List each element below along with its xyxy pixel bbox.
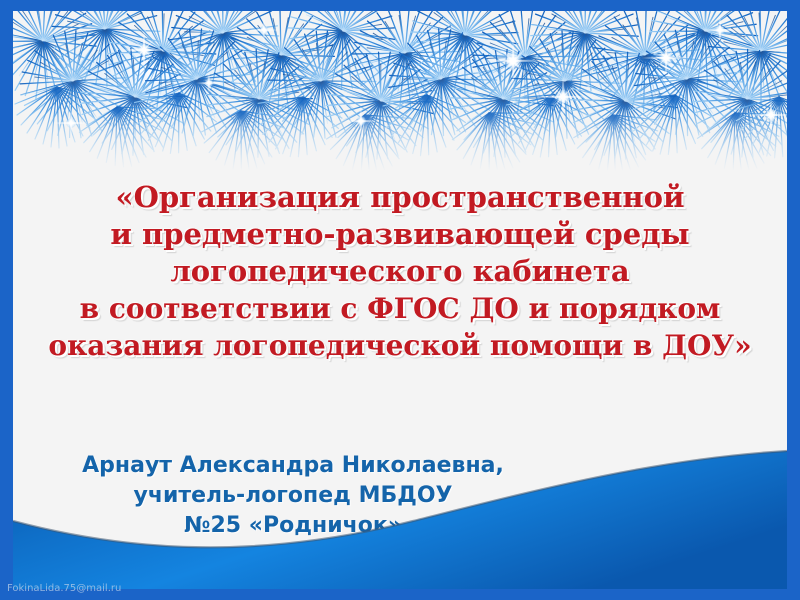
fir-branch-decoration	[13, 11, 787, 171]
watermark: FokinaLida.75@mail.ru	[7, 583, 121, 594]
title-line: и предметно-развивающей среды	[13, 216, 787, 253]
title-line: в соответствии с ФГОС ДО и порядком	[13, 290, 787, 327]
slide-title: «Организация пространственной и предметн…	[13, 179, 787, 364]
title-line: логопедического кабинета	[13, 253, 787, 290]
bottom-wave-decoration	[13, 449, 787, 589]
slide-canvas: «Организация пространственной и предметн…	[13, 11, 787, 589]
title-line: «Организация пространственной	[13, 179, 787, 216]
title-line: оказания логопедической помощи в ДОУ»	[13, 327, 787, 364]
slide: «Организация пространственной и предметн…	[0, 0, 800, 600]
